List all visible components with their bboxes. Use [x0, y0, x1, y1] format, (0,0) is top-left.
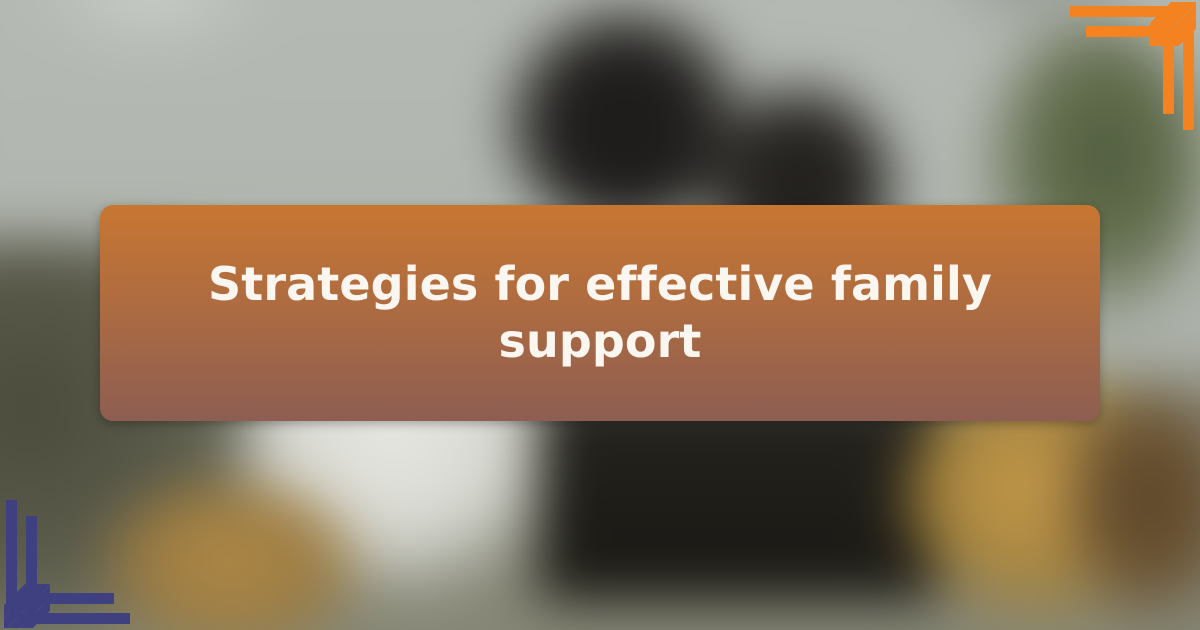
social-card-canvas: Strategies for effective family support — [0, 0, 1200, 630]
top-right-corner-ornament — [1040, 0, 1200, 130]
background-laptop — [540, 390, 940, 600]
ornament-diagonal-dashes — [1150, 2, 1196, 46]
title-card: Strategies for effective family support — [100, 205, 1100, 421]
page-title: Strategies for effective family support — [100, 256, 1100, 369]
bottom-left-corner-ornament — [0, 500, 160, 630]
ornament-diagonal-dashes — [4, 584, 50, 628]
